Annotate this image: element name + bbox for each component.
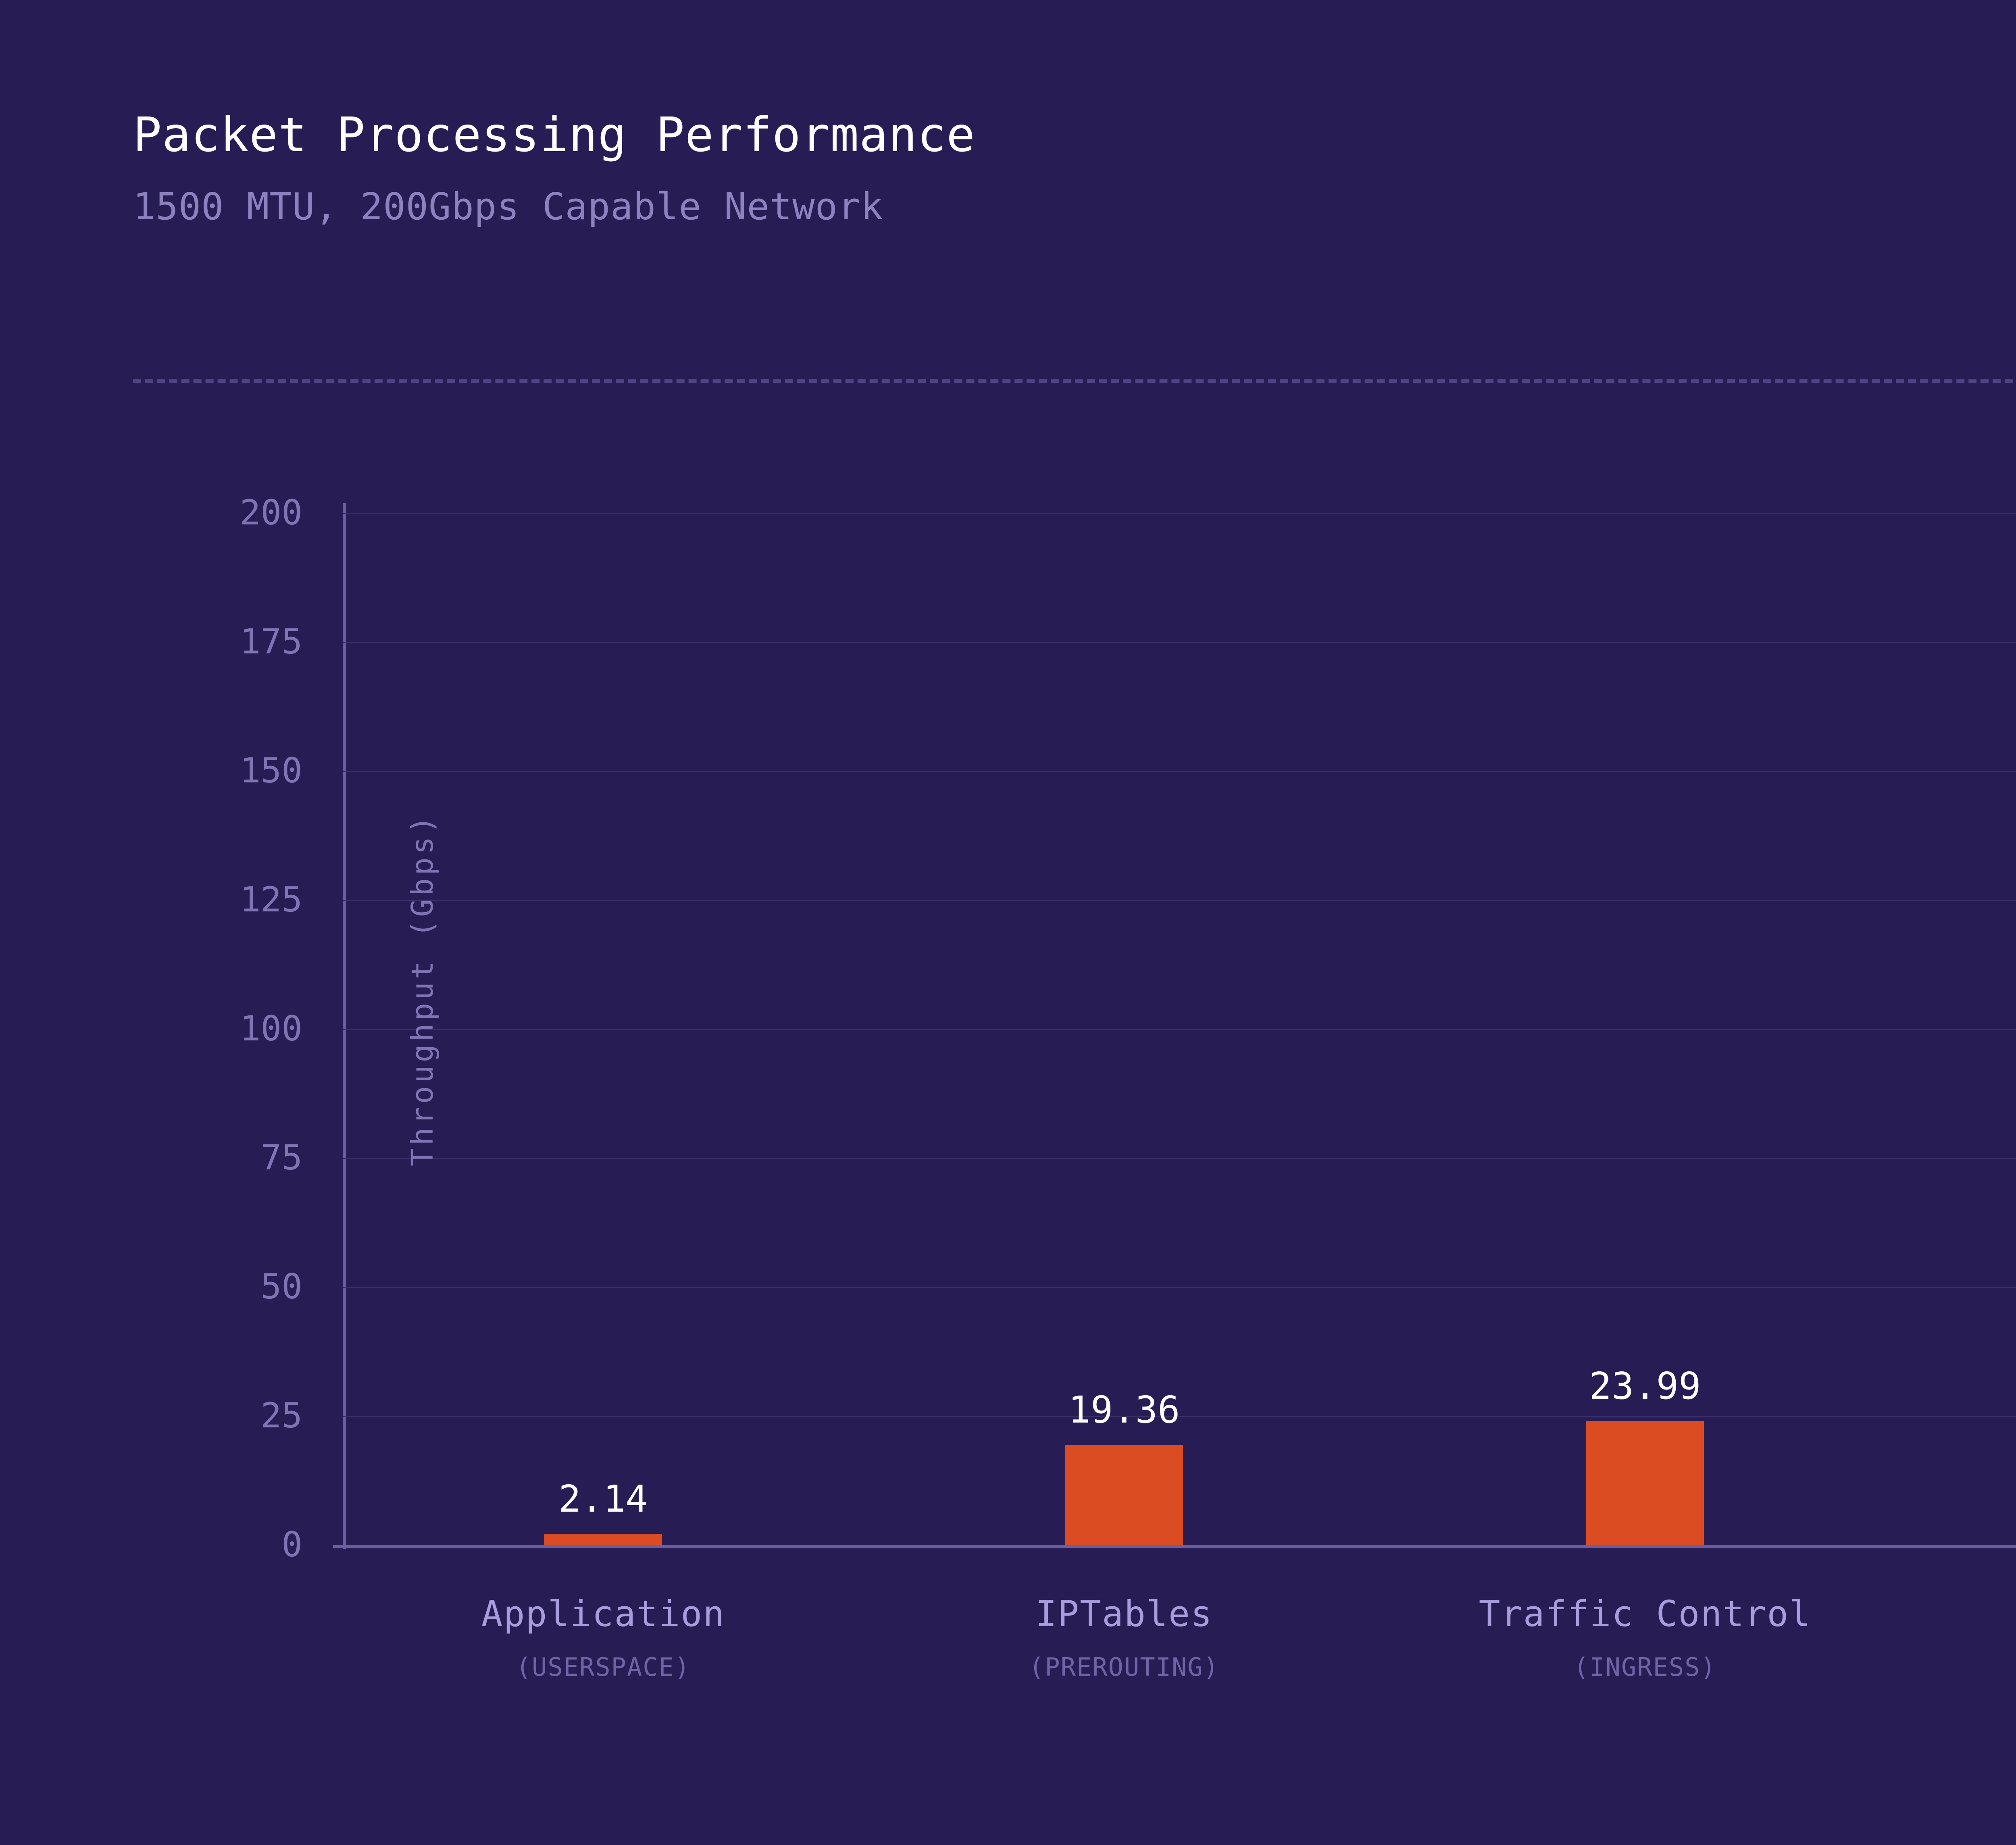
bar[interactable] xyxy=(544,1534,662,1545)
y-axis-tick-label: 125 xyxy=(77,880,302,920)
y-axis-title: Throughput (Gbps) xyxy=(405,813,440,1166)
y-axis-tick-label: 75 xyxy=(77,1138,302,1178)
x-axis-category: Application(USERSPACE) xyxy=(422,1593,785,1682)
bar[interactable] xyxy=(1586,1421,1704,1545)
gridline xyxy=(343,513,2016,514)
plot-wrapper: 0255075100125150175200 Throughput (Gbps)… xyxy=(0,0,2016,1845)
x-axis-category: IPTables(PREROUTING) xyxy=(943,1593,1306,1682)
x-axis-category-label: IPTables xyxy=(943,1593,1306,1635)
chart-page: Packet Processing Performance 1500 MTU, … xyxy=(0,0,2016,1845)
y-axis-tick-label: 150 xyxy=(77,751,302,791)
x-axis-category-label: XDP xyxy=(1985,1593,2016,1635)
y-axis-tick-label: 0 xyxy=(77,1525,302,1565)
y-axis-tick-label: 200 xyxy=(77,493,302,533)
bar-value-label: 23.99 xyxy=(1504,1365,1786,1408)
bar-value-label: 19.36 xyxy=(983,1388,1265,1431)
bar[interactable] xyxy=(1065,1445,1183,1545)
x-axis-category: Traffic Control(INGRESS) xyxy=(1464,1593,1826,1682)
y-axis-tick-label: 25 xyxy=(77,1396,302,1436)
x-axis-category-label: Traffic Control xyxy=(1464,1593,1826,1635)
x-axis-category-label: Application xyxy=(422,1593,785,1635)
x-axis-category-sublabel: (INGRESS) xyxy=(1464,1652,1826,1682)
gridline xyxy=(343,1287,2016,1288)
gridline xyxy=(343,771,2016,772)
x-axis-category: XDP(NATIVE) xyxy=(1985,1593,2016,1682)
gridline xyxy=(343,642,2016,643)
gridline xyxy=(343,1158,2016,1159)
gridline xyxy=(343,1029,2016,1030)
y-axis-tick-label: 100 xyxy=(77,1009,302,1049)
x-axis-spine xyxy=(333,1545,2016,1548)
x-axis-category-sublabel: (NATIVE) xyxy=(1985,1652,2016,1682)
x-axis-category-sublabel: (PREROUTING) xyxy=(943,1652,1306,1682)
x-axis-category-sublabel: (USERSPACE) xyxy=(422,1652,785,1682)
gridline xyxy=(343,900,2016,901)
plot-area: 0255075100125150175200 Throughput (Gbps)… xyxy=(343,513,2016,1545)
bar-value-label: 2.14 xyxy=(462,1477,744,1521)
y-axis-tick-label: 50 xyxy=(77,1267,302,1307)
y-axis-tick-label: 175 xyxy=(77,622,302,662)
